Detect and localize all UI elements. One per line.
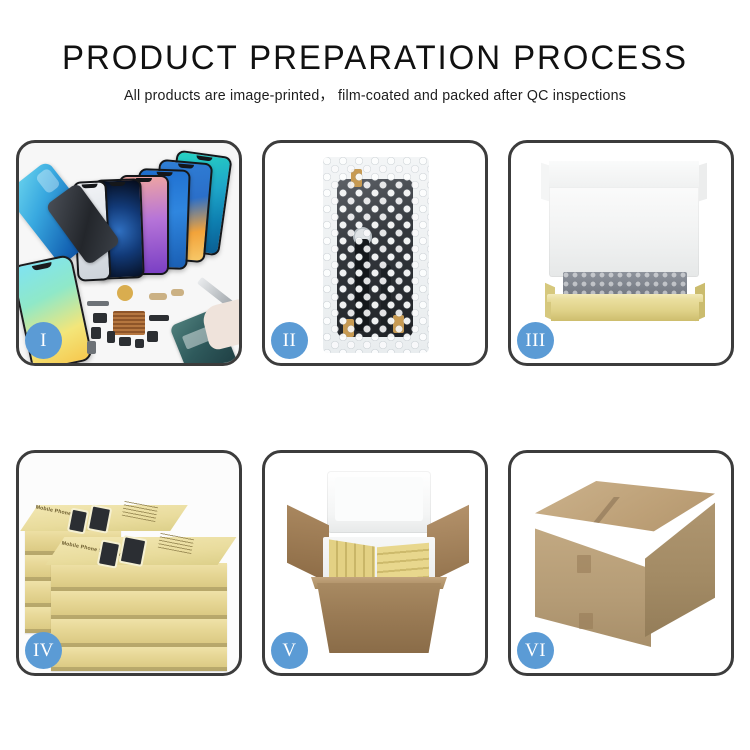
step-badge-1: I [25, 322, 62, 359]
carton-tape-upper [577, 555, 591, 573]
page-subtitle: All products are image-printed， film-coa… [8, 87, 743, 105]
stacked-box [51, 563, 227, 591]
part-copper-mesh [113, 311, 145, 335]
part-bracket [93, 313, 107, 323]
carton-front-face [535, 521, 651, 647]
stacked-box [51, 647, 227, 671]
part-clip [171, 289, 184, 296]
steps-grid: I II [16, 140, 734, 676]
part-module [91, 327, 101, 339]
bubble-texture [323, 157, 429, 353]
foam-lid [549, 161, 699, 277]
carton-top-seam [553, 497, 705, 531]
part-chip [107, 331, 115, 343]
page-title: PRODUCT PREPARATION PROCESS [11, 38, 739, 78]
step-panel-3: III [508, 140, 734, 366]
step-badge-2: II [271, 322, 308, 359]
step-panel-1: I [16, 140, 242, 366]
foam-lid-open [327, 471, 431, 533]
part-small [119, 337, 131, 346]
part-connector [149, 293, 167, 300]
step-badge-5: V [271, 632, 308, 669]
part-strip [87, 301, 109, 306]
sealed-carton [533, 481, 717, 651]
step-badge-6: VI [517, 632, 554, 669]
part-button [135, 339, 144, 348]
carton-body [317, 583, 441, 653]
step-badge-3: III [517, 322, 554, 359]
part-sim-tray [87, 341, 96, 354]
box-front-kraft [551, 299, 699, 321]
carton-tape-lower [579, 613, 593, 629]
step-panel-5: V [262, 450, 488, 676]
step-panel-4: Mobile Phone Spare Parts Mobile Phone Sp… [16, 450, 242, 676]
stacked-box [51, 619, 227, 647]
header: PRODUCT PREPARATION PROCESS All products… [0, 38, 750, 105]
part-flex-cable [149, 315, 169, 321]
step-panel-2: II [262, 140, 488, 366]
step-panel-6: VI [508, 450, 734, 676]
stacked-box [51, 591, 227, 619]
part-speaker [117, 285, 133, 301]
step-badge-4: IV [25, 632, 62, 669]
part-camera [147, 331, 158, 342]
bubble-wrap-bag [323, 157, 429, 353]
product-preparation-infographic: PRODUCT PREPARATION PROCESS All products… [0, 0, 750, 750]
